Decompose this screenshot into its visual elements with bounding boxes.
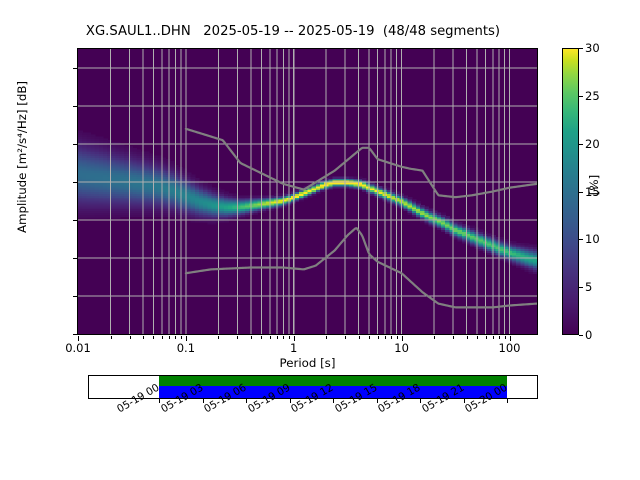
colorbar-tick-label: 5 <box>585 280 592 294</box>
colorbar-tick-label: 30 <box>585 41 600 55</box>
x-axis-tick-mark <box>175 336 176 339</box>
x-axis-tick-mark <box>218 336 219 339</box>
x-axis-tick-mark <box>402 336 403 341</box>
x-axis-tick-mark <box>289 336 290 339</box>
x-axis-tick-mark <box>130 336 131 339</box>
x-axis-tick-mark <box>169 336 170 339</box>
timeline-tick-mark <box>507 399 508 403</box>
x-axis-tick-label: 1 <box>249 341 339 355</box>
x-axis-tick-mark <box>345 336 346 339</box>
timeline-tick-mark <box>377 399 378 403</box>
x-axis-tick-mark <box>369 336 370 339</box>
x-axis-tick-mark <box>143 336 144 339</box>
timeline-tick-mark <box>203 399 204 403</box>
x-axis-tick-mark <box>505 336 506 339</box>
colorbar-tick-mark <box>579 335 583 336</box>
x-axis-tick-mark <box>499 336 500 339</box>
timeline-tick-mark <box>290 399 291 403</box>
x-axis-tick-mark <box>283 336 284 339</box>
timeline-tick-mark <box>464 399 465 403</box>
timeline-tick-mark <box>159 399 160 403</box>
timeline-tick-mark <box>246 399 247 403</box>
x-axis-tick-mark <box>467 336 468 339</box>
colorbar-tick-mark <box>579 144 583 145</box>
x-axis-tick-mark <box>510 336 511 341</box>
colorbar-label: [%] <box>587 125 601 245</box>
x-axis-tick-mark <box>153 336 154 339</box>
colorbar-tick-mark <box>579 239 583 240</box>
x-axis-tick-mark <box>385 336 386 339</box>
x-axis-label: Period [s] <box>77 356 538 370</box>
colorbar[interactable] <box>562 48 579 335</box>
x-axis-tick-mark <box>111 336 112 339</box>
x-axis-tick-mark <box>359 336 360 339</box>
x-axis-tick-mark <box>294 336 295 341</box>
x-axis-tick-mark <box>434 336 435 339</box>
x-axis-tick-mark <box>186 336 187 341</box>
x-axis-tick-label: 0.01 <box>33 341 123 355</box>
x-axis-tick-mark <box>397 336 398 339</box>
ppsd-plot-area[interactable] <box>77 48 538 335</box>
x-axis-tick-mark <box>493 336 494 339</box>
timeline-tick-mark <box>333 399 334 403</box>
x-axis-tick-mark <box>270 336 271 339</box>
colorbar-tick-mark <box>579 192 583 193</box>
x-axis-tick-mark <box>277 336 278 339</box>
x-axis-tick-label: 0.1 <box>141 341 231 355</box>
ppsd-figure: XG.SAUL1..DHN 2025-05-19 -- 2025-05-19 (… <box>0 0 640 480</box>
colorbar-tick-mark <box>579 287 583 288</box>
timeline-tick-mark <box>420 399 421 403</box>
y-axis-label: Amplitude [m²/s⁴/Hz] [dB] <box>15 17 29 297</box>
x-axis-tick-mark <box>486 336 487 339</box>
colorbar-tick-mark <box>579 96 583 97</box>
x-axis-tick-label: 10 <box>357 341 447 355</box>
x-axis-tick-mark <box>326 336 327 339</box>
colorbar-tick-mark <box>579 48 583 49</box>
ppsd-plot-canvas <box>78 49 537 334</box>
x-axis-tick-mark <box>162 336 163 339</box>
x-axis-tick-mark <box>477 336 478 339</box>
ppsd-heatmap-svg <box>78 49 537 334</box>
x-axis-tick-mark <box>78 336 79 341</box>
x-axis-tick-mark <box>378 336 379 339</box>
x-axis-tick-mark <box>237 336 238 339</box>
x-axis-tick-mark <box>251 336 252 339</box>
colorbar-tick-label: 25 <box>585 89 600 103</box>
colorbar-tick-label: 0 <box>585 328 592 342</box>
x-axis-tick-mark <box>391 336 392 339</box>
x-axis-tick-label: 100 <box>465 341 555 355</box>
x-axis-tick-mark <box>181 336 182 339</box>
page-title: XG.SAUL1..DHN 2025-05-19 -- 2025-05-19 (… <box>0 24 586 39</box>
x-axis-tick-mark <box>453 336 454 339</box>
x-axis-tick-mark <box>261 336 262 339</box>
